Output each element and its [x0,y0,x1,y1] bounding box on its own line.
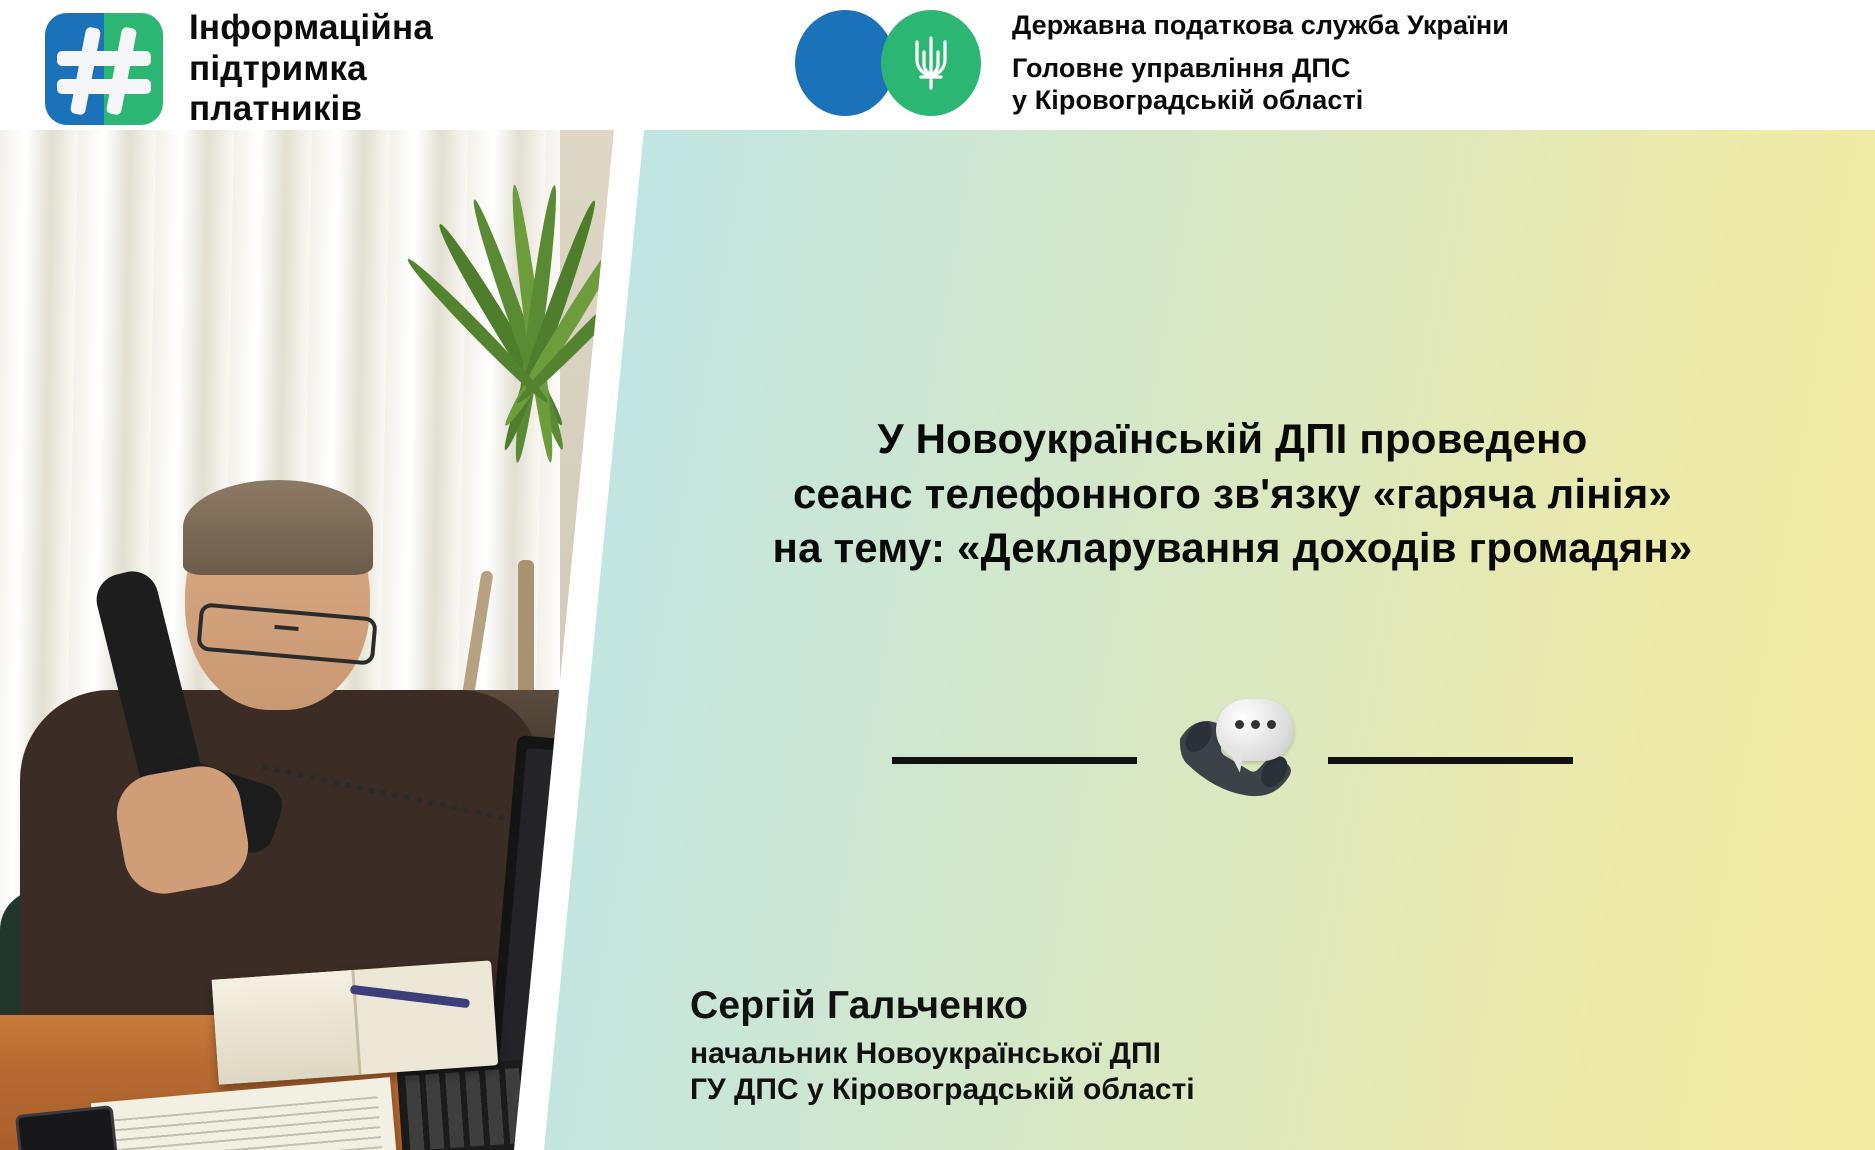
person-role-line2: ГУ ДПС у Кіровоградській області [690,1072,1195,1109]
gov-subtitle-line2: у Кіровоградській області [1012,84,1509,117]
decorative-divider [640,690,1825,830]
person-role-line1: начальник Новоукраїнської ДПІ [690,1036,1195,1073]
open-book [212,960,499,1084]
headline: У Новоукраїнській ДПІ проведено сеанс те… [640,412,1825,576]
headline-line3: на тему: «Декларування доходів громадян» [640,521,1825,576]
person-role: начальник Новоукраїнської ДПІ ГУ ДПС у К… [690,1036,1195,1109]
headline-line1: У Новоукраїнській ДПІ проведено [640,412,1825,467]
brand-title: Інформаційна підтримка платників [189,8,433,130]
divider-rule-right [1328,757,1573,764]
person-credit: Сергій Гальченко начальник Новоукраїнськ… [690,985,1195,1109]
header-bar: Інформаційна підтримка платників [0,0,1875,130]
person-name: Сергій Гальченко [690,985,1195,1028]
hashtag-icon [45,13,163,125]
gov-text: Державна податкова служба України Головн… [1012,9,1509,118]
brand-title-line2: підтримка [189,49,433,90]
man-hair [183,480,373,575]
gov-subtitle: Головне управління ДПС у Кіровоградській… [1012,52,1509,118]
brand-title-line3: платників [189,89,433,130]
gov-subtitle-line1: Головне управління ДПС [1012,52,1509,85]
poster: Інформаційна підтримка платників [0,0,1875,1150]
brand-title-line1: Інформаційна [189,8,433,49]
gov-block: Державна податкова служба України Головн… [795,8,1509,118]
blue-circle [795,10,895,116]
headline-line2: сеанс телефонного зв'язку «гаряча лінія» [640,467,1825,522]
brand-block: Інформаційна підтримка платників [45,8,433,130]
telephone-receiver-with-speech-bubble-icon [1165,693,1300,828]
gov-emblem [795,8,990,118]
ukraine-trident-icon [907,30,955,96]
divider-rule-left [892,757,1137,764]
gov-title: Державна податкова служба України [1012,9,1509,42]
